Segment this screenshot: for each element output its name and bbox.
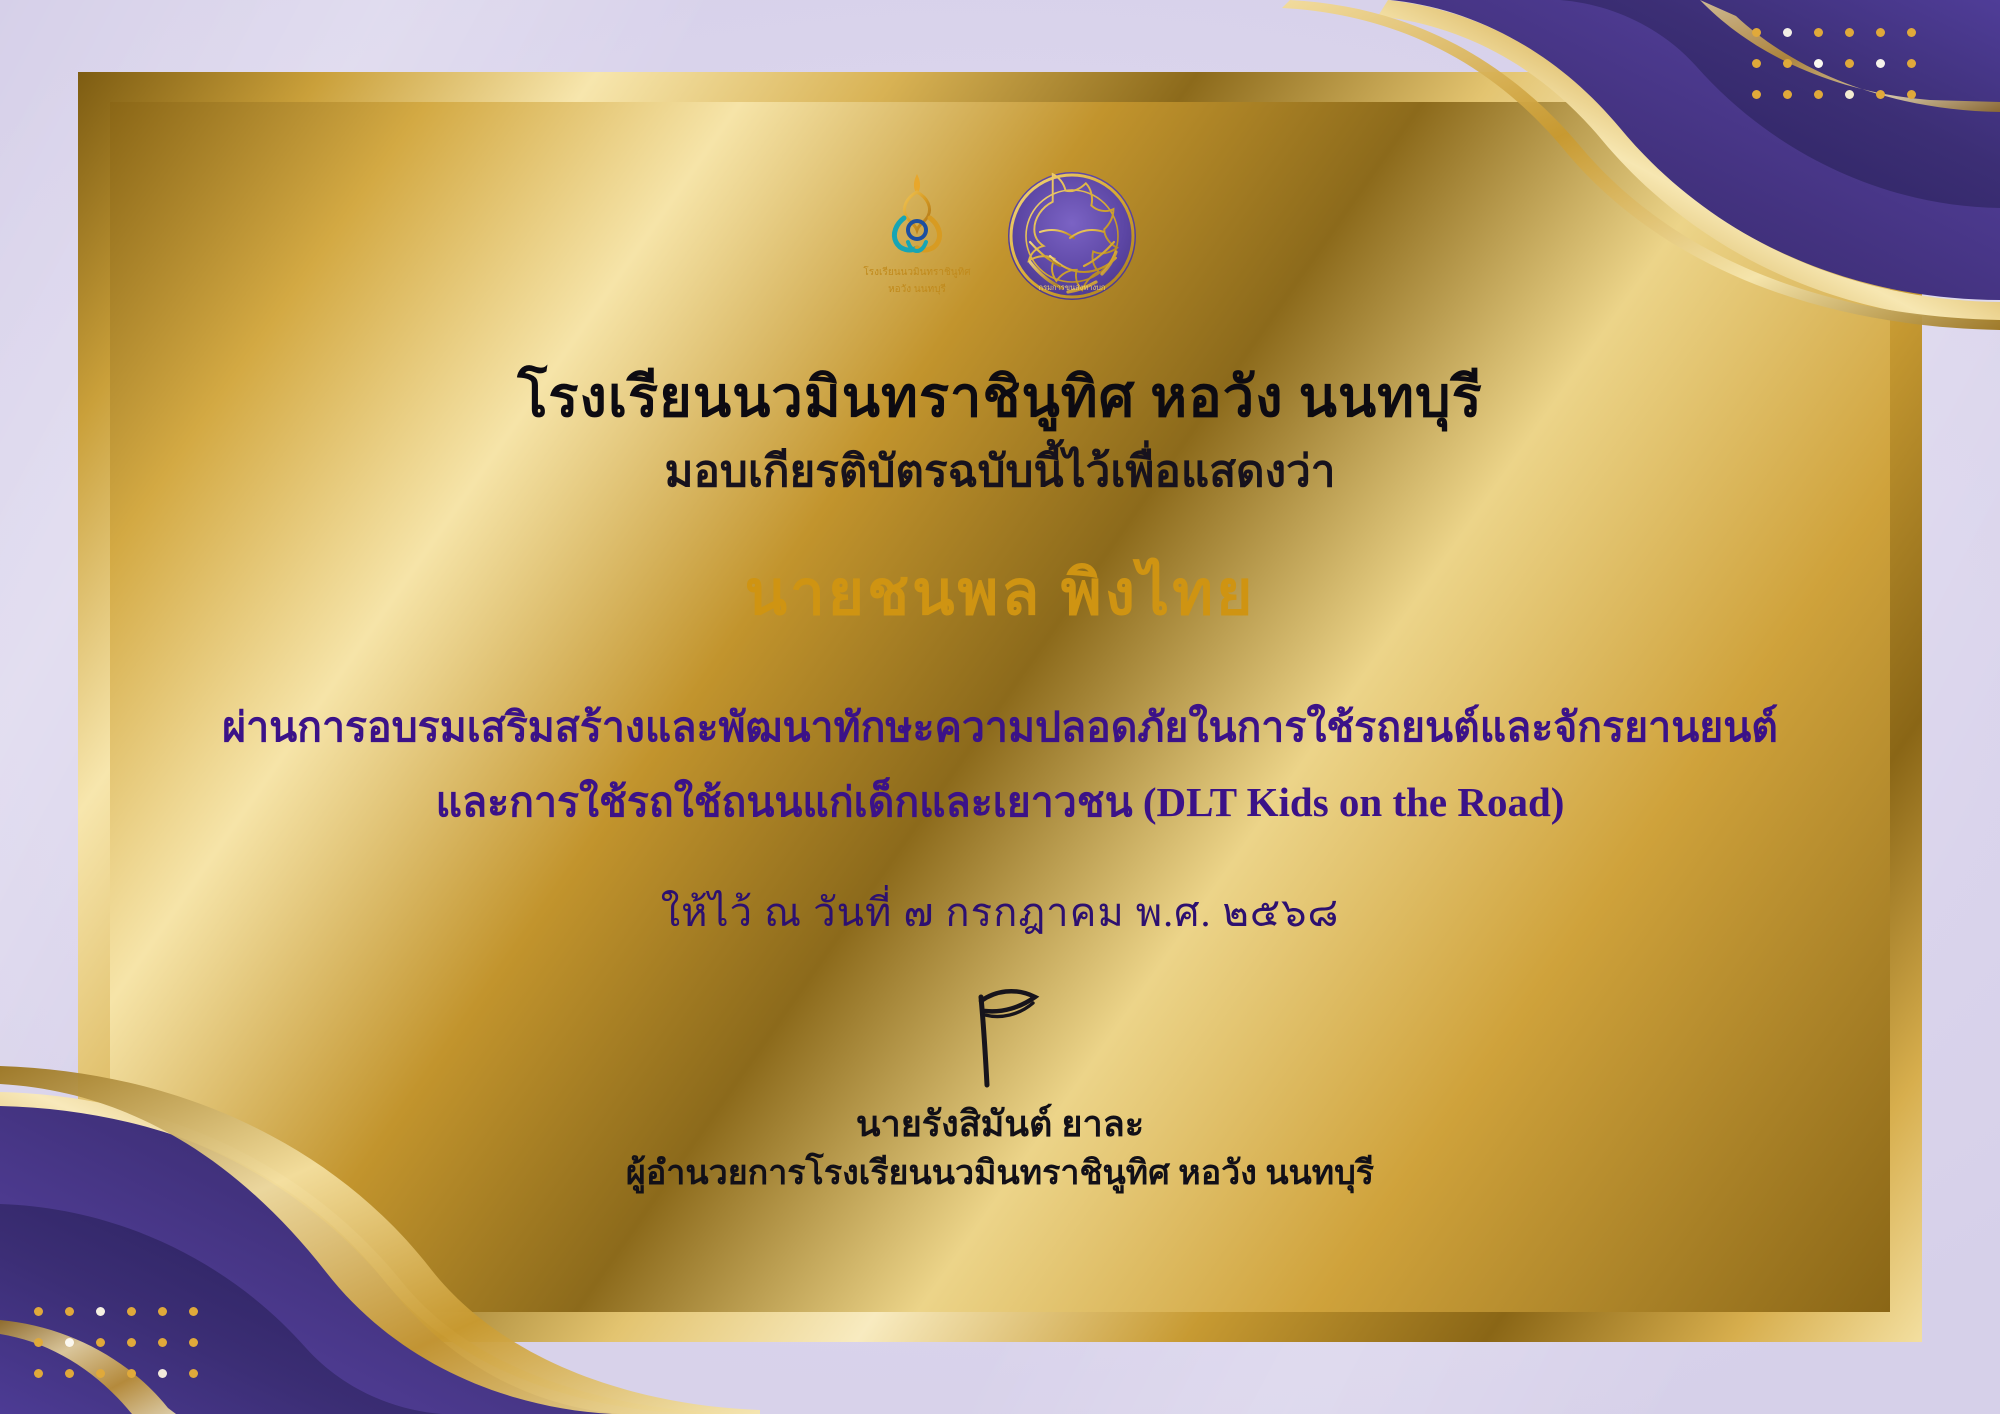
body-text-line-2: และการใช้รถใช้ถนนแก่เด็กและเยาวชน (DLT K… xyxy=(0,780,2000,826)
dlt-logo-caption: กรมการขนส่งทางบก xyxy=(1039,283,1106,292)
recipient-name: นายชนพล พิงไทย xyxy=(0,560,2000,628)
issue-date-line: ให้ไว้ ณ วันที่ ๗ กรกฎาคม พ.ศ. ๒๕๖๘ xyxy=(0,880,2000,944)
school-emblem-icon: โรงเรียนนวมินทราชินูทิศ หอวัง นนทบุรี xyxy=(862,170,972,305)
school-logo-caption-line1: โรงเรียนนวมินทราชินูทิศ xyxy=(863,265,971,278)
signatory-title: ผู้อำนวยการโรงเรียนนวมินทราชินูทิศ หอวัง… xyxy=(0,1153,2000,1196)
certificate-page: โรงเรียนนวมินทราชินูทิศ หอวัง นนทบุรี xyxy=(0,0,2000,1414)
page-title: โรงเรียนนวมินทราชินูทิศ หอวัง นนทบุรี xyxy=(0,368,2000,428)
body-text-line-1: ผ่านการอบรมเสริมสร้างและพัฒนาทักษะความปล… xyxy=(0,705,2000,751)
signatory-name: นายรังสิมันต์ ยาละ xyxy=(0,1102,2000,1147)
handwritten-signature-icon xyxy=(0,990,2000,1100)
signature-block: นายรังสิมันต์ ยาละ ผู้อำนวยการโรงเรียนนว… xyxy=(0,990,2000,1196)
award-statement: มอบเกียรติบัตรฉบับนี้ไว้เพื่อแสดงว่า xyxy=(0,448,2000,496)
department-of-land-transport-seal-icon: กรมการขนส่งทางบก xyxy=(1006,170,1138,302)
logo-row: โรงเรียนนวมินทราชินูทิศ หอวัง นนทบุรี xyxy=(862,170,1138,305)
school-logo-caption-line2: หอวัง นนทบุรี xyxy=(888,283,946,295)
